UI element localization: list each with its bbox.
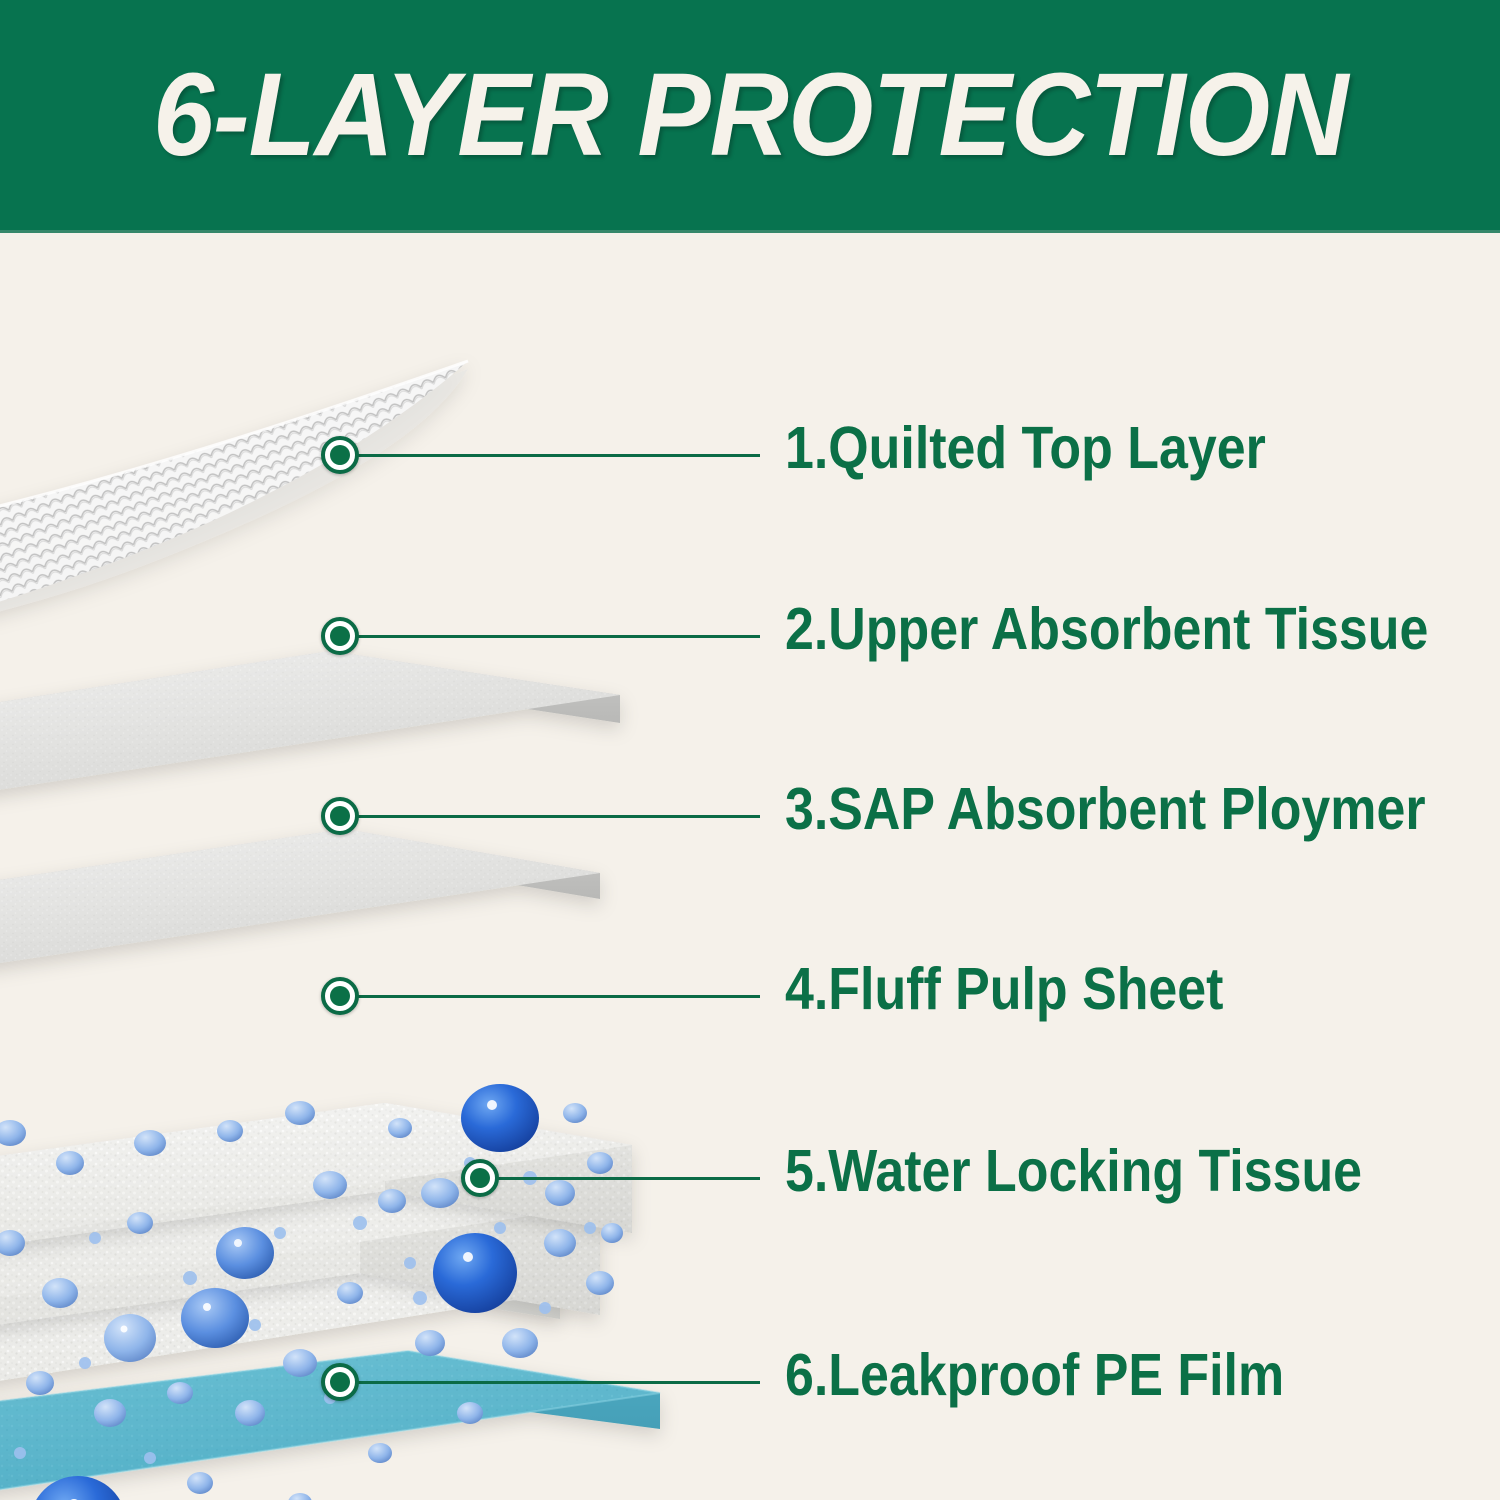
exploded-layer-stack-illustration	[0, 233, 1500, 1500]
page-title: 6-LAYER PROTECTION	[153, 56, 1348, 174]
callout-dot-3[interactable]	[321, 797, 359, 835]
callout-dot-1[interactable]	[321, 436, 359, 474]
callout-line-2	[340, 635, 760, 638]
callout-line-6	[340, 1381, 760, 1384]
callout-label-2: 2.Upper Absorbent Tissue	[785, 600, 1428, 659]
callout-dot-5[interactable]	[461, 1159, 499, 1197]
layer-1-quilted-top-layer	[0, 361, 468, 660]
callout-line-5	[480, 1177, 760, 1180]
header-banner: 6-LAYER PROTECTION	[0, 0, 1500, 233]
callout-label-4: 4.Fluff Pulp Sheet	[785, 960, 1223, 1019]
callout-dot-4[interactable]	[321, 977, 359, 1015]
layer-3-sap-absorbent-polymer	[0, 829, 600, 981]
layer-2-upper-absorbent-tissue	[0, 651, 620, 811]
callout-dot-2[interactable]	[321, 617, 359, 655]
callout-line-3	[340, 815, 760, 818]
layer-diagram: 1.Quilted Top Layer 2.Upper Absorbent Ti…	[0, 233, 1500, 1500]
callout-label-5: 5.Water Locking Tissue	[785, 1142, 1362, 1201]
callout-line-4	[340, 995, 760, 998]
callout-label-1: 1.Quilted Top Layer	[785, 419, 1266, 478]
callout-dot-6[interactable]	[321, 1363, 359, 1401]
callout-label-6: 6.Leakproof PE Film	[785, 1346, 1284, 1405]
callout-line-1	[340, 454, 760, 457]
callout-label-3: 3.SAP Absorbent Ploymer	[785, 780, 1426, 839]
